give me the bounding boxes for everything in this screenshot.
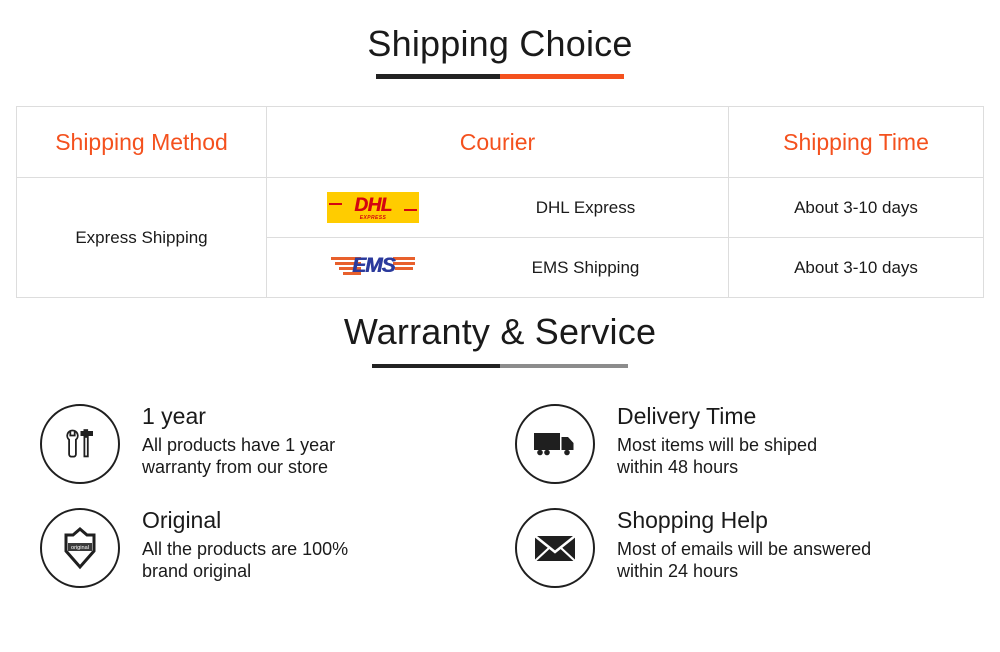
shield-badge-text: original <box>71 545 89 551</box>
feature-description: Most items will be shiped within 48 hour… <box>617 434 817 479</box>
cell-shipping-time-ems: About 3-10 days <box>729 238 984 298</box>
warranty-service-heading: Warranty & Service <box>0 298 1000 368</box>
heading-underline-left <box>376 74 500 79</box>
cell-shipping-method: Express Shipping <box>17 178 267 298</box>
ems-logo: EMS <box>329 253 417 283</box>
shipping-table: Shipping Method Courier Shipping Time Ex… <box>16 106 984 298</box>
shipping-choice-heading: Shipping Choice <box>0 0 1000 79</box>
cell-courier-dhl: DHL EXPRESS DHL Express <box>267 178 729 238</box>
dhl-sub-wordmark: EXPRESS <box>360 216 386 221</box>
column-header-shipping-time: Shipping Time <box>729 107 984 178</box>
dhl-stripe-top <box>329 203 342 205</box>
ems-logo-slot: EMS <box>268 253 478 283</box>
feature-original: original Original All the products are 1… <box>40 504 489 588</box>
feature-one-year: 1 year All products have 1 year warranty… <box>40 400 489 484</box>
dhl-logo: DHL EXPRESS <box>327 192 419 223</box>
heading-underline-left <box>372 364 500 368</box>
feature-description: Most of emails will be answered within 2… <box>617 538 871 583</box>
cell-shipping-time-dhl: About 3-10 days <box>729 178 984 238</box>
tools-icon <box>40 404 120 484</box>
feature-title: Delivery Time <box>617 402 817 431</box>
heading-underline <box>376 74 624 79</box>
shipping-table-wrapper: Shipping Method Courier Shipping Time Ex… <box>16 106 984 298</box>
table-row: Express Shipping DHL EXPRESS DHL Express <box>17 178 984 238</box>
feature-body: Delivery Time Most items will be shiped … <box>595 400 817 479</box>
section-title: Warranty & Service <box>0 314 1000 350</box>
feature-body: Original All the products are 100% brand… <box>120 504 348 583</box>
truck-icon <box>515 404 595 484</box>
heading-underline-right <box>500 74 624 79</box>
dhl-wordmark: DHL <box>354 196 392 215</box>
courier-name-ems: EMS Shipping <box>478 258 727 278</box>
cell-courier-ems: EMS EMS Shipping <box>267 238 729 298</box>
feature-description: All the products are 100% brand original <box>142 538 348 583</box>
feature-body: 1 year All products have 1 year warranty… <box>120 400 335 479</box>
feature-title: 1 year <box>142 402 335 431</box>
dhl-logo-slot: DHL EXPRESS <box>268 192 478 223</box>
feature-title: Original <box>142 506 348 535</box>
page-title: Shipping Choice <box>0 26 1000 62</box>
feature-body: Shopping Help Most of emails will be ans… <box>595 504 871 583</box>
courier-name-dhl: DHL Express <box>478 198 727 218</box>
feature-delivery-time: Delivery Time Most items will be shiped … <box>515 400 964 484</box>
ems-wordmark: EMS <box>352 255 395 276</box>
ems-speedline <box>393 262 415 265</box>
feature-shopping-help: Shopping Help Most of emails will be ans… <box>515 504 964 588</box>
envelope-icon <box>515 508 595 588</box>
ems-speedline <box>393 257 415 260</box>
table-header-row: Shipping Method Courier Shipping Time <box>17 107 984 178</box>
column-header-shipping-method: Shipping Method <box>17 107 267 178</box>
heading-underline <box>372 364 628 368</box>
heading-underline-right <box>500 364 628 368</box>
warranty-feature-grid: 1 year All products have 1 year warranty… <box>0 400 1000 588</box>
dhl-stripe-bottom <box>404 209 417 211</box>
shield-original-icon: original <box>40 508 120 588</box>
column-header-courier: Courier <box>267 107 729 178</box>
feature-description: All products have 1 year warranty from o… <box>142 434 335 479</box>
feature-title: Shopping Help <box>617 506 871 535</box>
ems-speedline <box>395 267 413 270</box>
